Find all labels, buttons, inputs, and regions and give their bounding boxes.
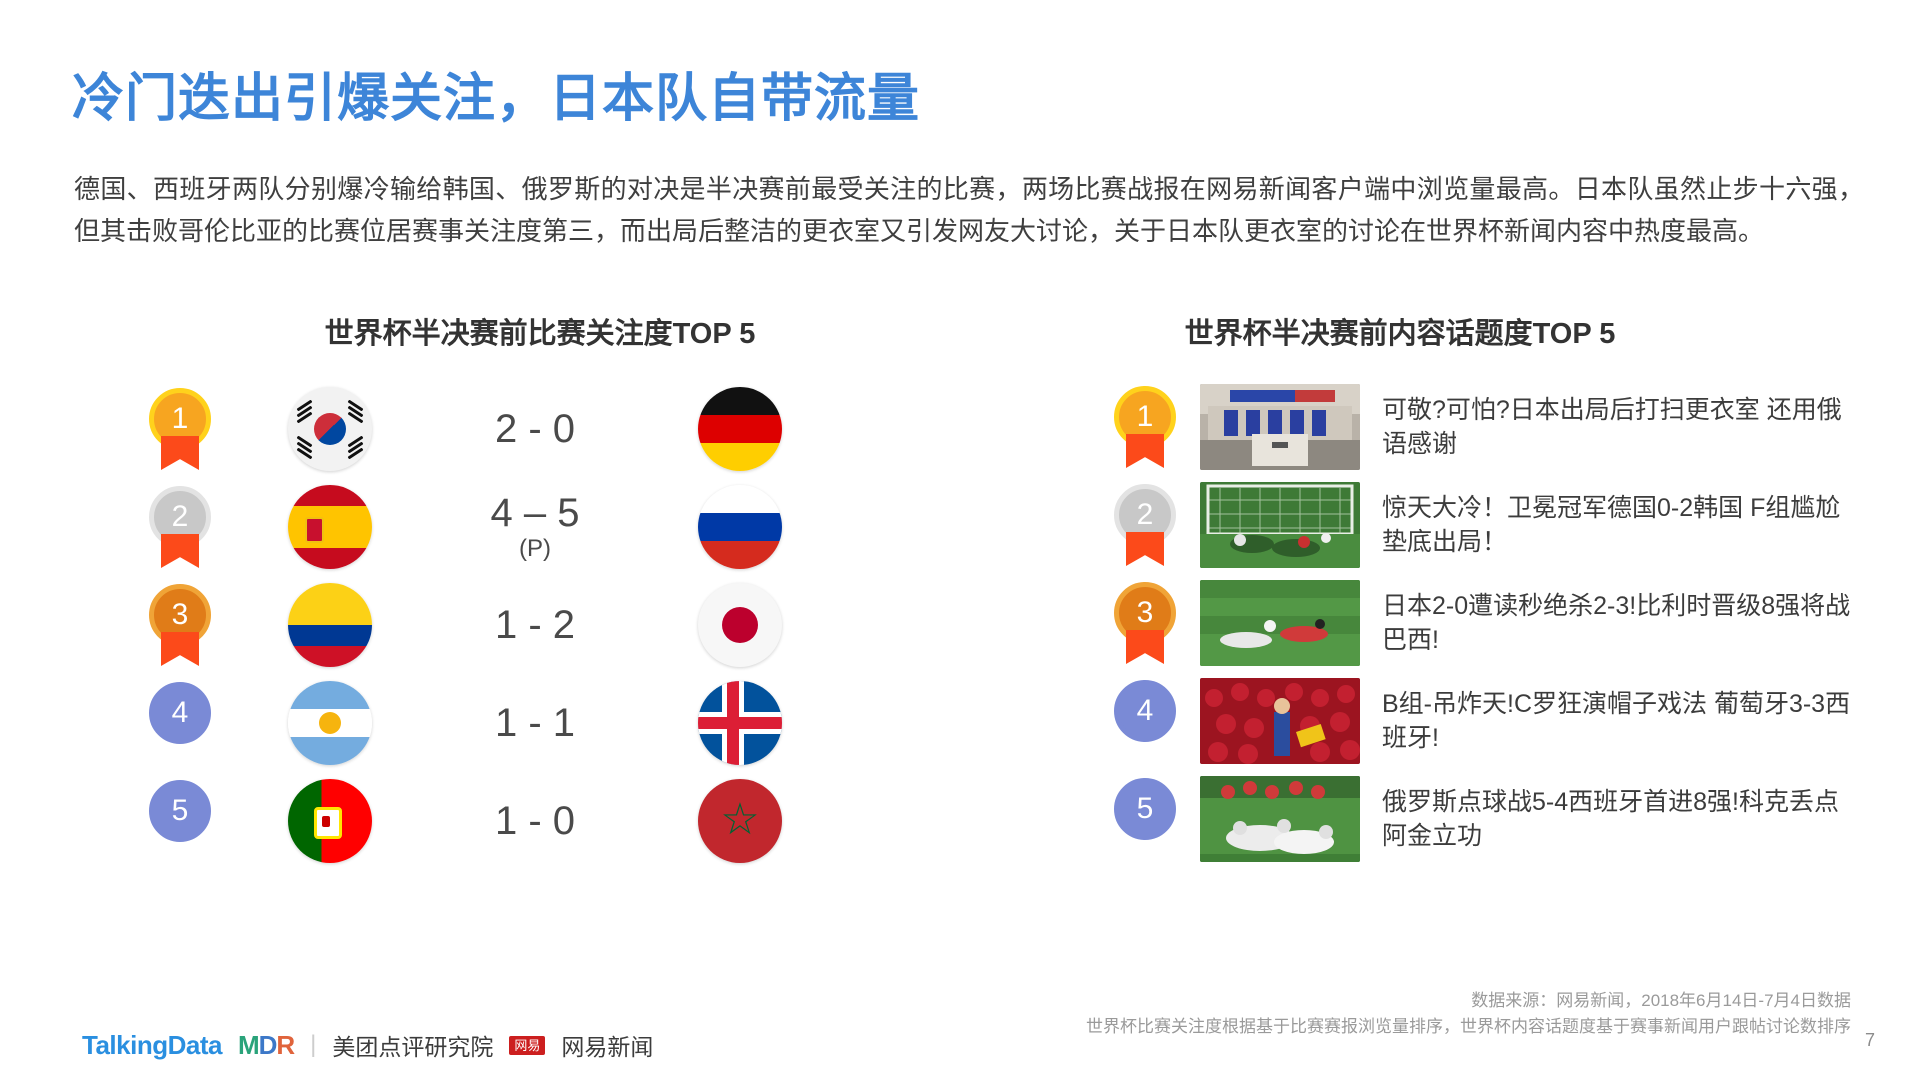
- source-note: 数据来源：网易新闻，2018年6月14日-7月4日数据 世界杯比赛关注度根据基于…: [1086, 988, 1851, 1039]
- netease-news-logo: 网易新闻: [561, 1028, 653, 1062]
- rank-badge-plain: 4: [149, 682, 211, 764]
- topic-ranking-list: 1 可: [1090, 378, 1890, 868]
- rank-cell: 2: [1090, 484, 1200, 566]
- ribbon-icon: [1126, 434, 1164, 468]
- topic-row: 4 B组-吊炸天!C罗狂演: [1090, 672, 1890, 770]
- rank-badge-plain: 5: [1114, 778, 1176, 860]
- topic-title: 惊天大冷！卫冕冠军德国0-2韩国 F组尴尬垫底出局！: [1382, 491, 1852, 560]
- slide-root: 冷门迭出引爆关注，日本队自带流量 德国、西班牙两队分别爆冷输给韩国、俄罗斯的对决…: [0, 0, 1921, 1080]
- topic-title: 俄罗斯点球战5-4西班牙首进8强!科克丢点阿金立功: [1382, 785, 1852, 854]
- match-ranking-list: 1 2 - 0 2: [120, 380, 880, 870]
- topic-row: 1 可: [1090, 378, 1890, 476]
- left-panel-heading: 世界杯半决赛前比赛关注度TOP 5: [180, 310, 900, 352]
- score-text: 1 - 2: [495, 603, 575, 647]
- source-line-1: 数据来源：网易新闻，2018年6月14日-7月4日数据: [1086, 988, 1851, 1014]
- ribbon-icon: [161, 632, 199, 666]
- score-text: 1 - 0: [495, 799, 575, 843]
- away-flag-cell: ☆: [650, 779, 830, 863]
- home-flag-cell: [240, 583, 420, 667]
- away-flag-cell: [650, 681, 830, 765]
- topic-title: 日本2-0遭读秒绝杀2-3!比利时晋级8强将战巴西!: [1382, 589, 1852, 658]
- germany-flag-icon: [698, 387, 782, 471]
- celebration-pile-photo: [1200, 776, 1360, 862]
- rank-badge-silver: 2: [1114, 484, 1176, 566]
- locker-room-photo: [1200, 384, 1360, 470]
- rank-badge-gold: 1: [1114, 386, 1176, 468]
- rank-number: 4: [1114, 680, 1176, 742]
- portugal-flag-icon: [288, 779, 372, 863]
- rank-number: 4: [149, 682, 211, 744]
- home-flag-cell: [240, 779, 420, 863]
- page-title: 冷门迭出引爆关注，日本队自带流量: [72, 56, 920, 131]
- match-row: 1 2 - 0: [120, 380, 880, 478]
- rank-badge-plain: 4: [1114, 680, 1176, 762]
- score-text: 1 - 1: [495, 701, 575, 745]
- netease-mark-icon: 网易: [509, 1036, 545, 1055]
- home-flag-cell: [240, 387, 420, 471]
- south-korea-flag-icon: [288, 387, 372, 471]
- mdr-logo: MDR: [238, 1030, 294, 1061]
- iceland-flag-icon: [698, 681, 782, 765]
- argentina-flag-icon: [288, 681, 372, 765]
- right-panel-heading: 世界杯半决赛前内容话题度TOP 5: [1000, 310, 1800, 352]
- morocco-flag-icon: ☆: [698, 779, 782, 863]
- away-flag-cell: [650, 485, 830, 569]
- penalty-note: (P): [420, 536, 650, 561]
- red-crowd-photo: [1200, 678, 1360, 764]
- rank-cell: 2: [120, 486, 240, 568]
- match-row: 5 1 - 0 ☆: [120, 772, 880, 870]
- talkingdata-logo: TalkingData: [82, 1030, 222, 1061]
- rank-cell: 5: [1090, 778, 1200, 860]
- match-score: 1 - 2: [420, 604, 650, 646]
- rank-cell: 4: [120, 682, 240, 764]
- home-flag-cell: [240, 485, 420, 569]
- rank-cell: 4: [1090, 680, 1200, 762]
- meituan-research-logo: 美团点评研究院: [332, 1028, 493, 1062]
- logo-divider: |: [310, 1031, 316, 1059]
- ribbon-icon: [1126, 630, 1164, 664]
- rank-cell: 3: [120, 584, 240, 666]
- rank-cell: 3: [1090, 582, 1200, 664]
- rank-badge-bronze: 3: [149, 584, 211, 666]
- rank-cell: 1: [120, 388, 240, 470]
- match-score: 1 - 0: [420, 800, 650, 842]
- rank-cell: 5: [120, 780, 240, 862]
- match-row: 2 4 – 5 (P): [120, 478, 880, 576]
- match-score: 1 - 1: [420, 702, 650, 744]
- page-number: 7: [1865, 1030, 1875, 1051]
- match-row: 3 1 - 2: [120, 576, 880, 674]
- source-line-2: 世界杯比赛关注度根据基于比赛赛报浏览量排序，世界杯内容话题度基于赛事新闻用户跟帖…: [1086, 1014, 1851, 1040]
- rank-badge-gold: 1: [149, 388, 211, 470]
- rank-badge-bronze: 3: [1114, 582, 1176, 664]
- rank-number: 5: [1114, 778, 1176, 840]
- japan-flag-icon: [698, 583, 782, 667]
- rank-cell: 1: [1090, 386, 1200, 468]
- home-flag-cell: [240, 681, 420, 765]
- russia-flag-icon: [698, 485, 782, 569]
- match-score: 2 - 0: [420, 408, 650, 450]
- away-flag-cell: [650, 583, 830, 667]
- spain-flag-icon: [288, 485, 372, 569]
- topic-row: 3 日本2-0遭读秒绝杀2-3!比利时晋级8强将战巴西!: [1090, 574, 1890, 672]
- logo-bar: TalkingData MDR | 美团点评研究院 网易 网易新闻: [82, 1028, 653, 1062]
- ribbon-icon: [161, 436, 199, 470]
- colombia-flag-icon: [288, 583, 372, 667]
- ribbon-icon: [161, 534, 199, 568]
- goalmouth-save-photo: [1200, 482, 1360, 568]
- match-row: 4 1 - 1: [120, 674, 880, 772]
- page-lede: 德国、西班牙两队分别爆冷输给韩国、俄罗斯的对决是半决赛前最受关注的比赛，两场比赛…: [74, 168, 1864, 252]
- topic-row: 5 俄罗斯点球战5-4西班牙首进8强!科克: [1090, 770, 1890, 868]
- topic-title: 可敬?可怕?日本出局后打扫更衣室 还用俄语感谢: [1382, 393, 1852, 462]
- score-text: 4 – 5: [491, 491, 580, 535]
- pitch-tackle-photo: [1200, 580, 1360, 666]
- rank-number: 5: [149, 780, 211, 842]
- rank-badge-silver: 2: [149, 486, 211, 568]
- match-score: 4 – 5 (P): [420, 492, 650, 561]
- topic-title: B组-吊炸天!C罗狂演帽子戏法 葡萄牙3-3西班牙!: [1382, 687, 1852, 756]
- away-flag-cell: [650, 387, 830, 471]
- rank-badge-plain: 5: [149, 780, 211, 862]
- topic-row: 2: [1090, 476, 1890, 574]
- score-text: 2 - 0: [495, 407, 575, 451]
- ribbon-icon: [1126, 532, 1164, 566]
